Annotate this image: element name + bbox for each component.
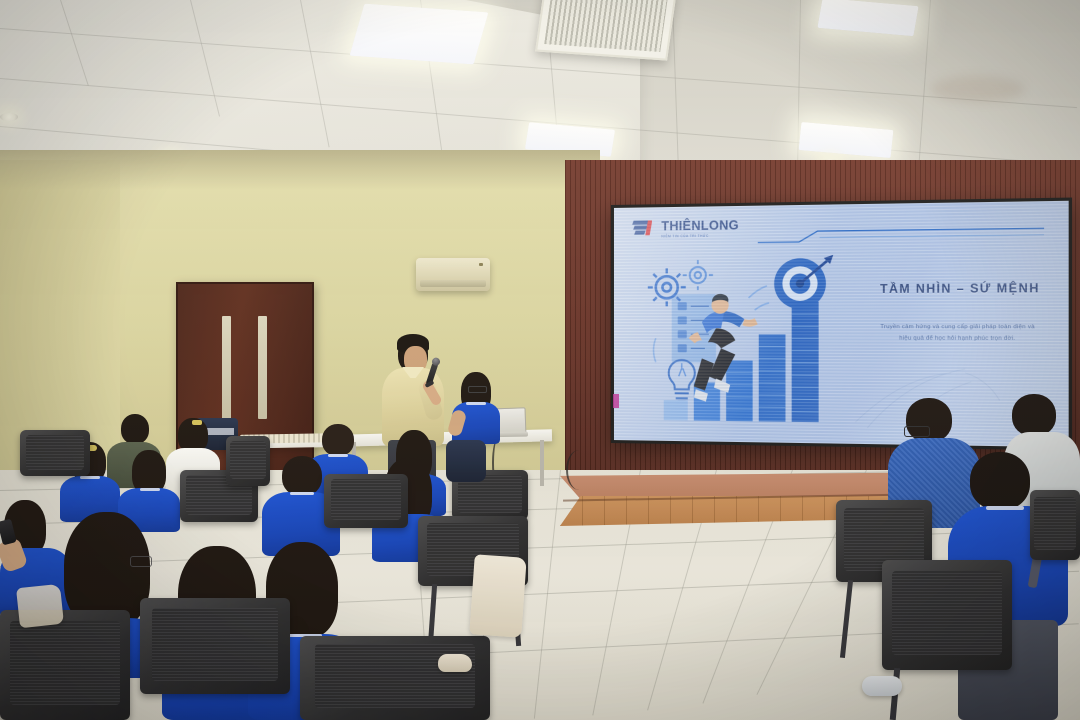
office-chair[interactable] xyxy=(1030,490,1080,560)
slide-header-accent xyxy=(758,226,1045,244)
slide-surface: THIÊNLONG NIỀM TIN CỦA TRI THỨC xyxy=(614,201,1069,447)
draped-jacket xyxy=(469,554,526,637)
thienlong-logo-mark xyxy=(633,220,657,235)
audience-head xyxy=(121,414,149,444)
audience-head xyxy=(970,452,1030,510)
shoe xyxy=(862,676,902,696)
draped-cloth xyxy=(16,584,64,628)
backpack-on-floor xyxy=(446,440,486,482)
office-chair[interactable] xyxy=(300,636,490,720)
floor-cable xyxy=(566,450,592,490)
office-chair[interactable] xyxy=(140,598,290,694)
ceiling-stain xyxy=(930,76,1025,102)
ceiling-downlight xyxy=(0,113,18,121)
hair-clip xyxy=(192,420,202,425)
table-leg xyxy=(540,440,544,486)
ceiling-ac-cassette xyxy=(535,0,677,61)
thienlong-logo-tagline: NIỀM TIN CỦA TRI THỨC xyxy=(661,233,739,238)
office-chair[interactable] xyxy=(20,430,90,476)
thienlong-logo: THIÊNLONG NIỀM TIN CỦA TRI THỨC xyxy=(633,219,739,239)
office-chair[interactable] xyxy=(0,610,130,720)
audience-head xyxy=(322,424,354,456)
wall-ceiling-shadow xyxy=(0,150,600,190)
growth-illustration xyxy=(635,245,839,427)
eyeglasses xyxy=(904,426,930,437)
audience-head xyxy=(1012,394,1056,436)
moderator-glasses xyxy=(468,386,487,393)
seated-moderator xyxy=(448,374,504,444)
audience-head xyxy=(282,456,322,496)
thienlong-logo-text: THIÊNLONG xyxy=(661,219,739,233)
ceiling-panel-light xyxy=(350,4,489,65)
screen-edge-marker xyxy=(613,394,619,408)
audience-collar xyxy=(140,488,160,491)
audience-collar xyxy=(290,492,314,495)
audience-collar xyxy=(80,476,100,479)
office-chair[interactable] xyxy=(226,436,270,486)
shoe xyxy=(438,654,472,672)
moderator-collar xyxy=(466,402,486,405)
seminar-room-photo: THIÊNLONG NIỀM TIN CỦA TRI THỨC xyxy=(0,0,1080,720)
office-chair[interactable] xyxy=(324,474,408,528)
eyeglasses xyxy=(130,556,152,567)
led-presentation-screen: THIÊNLONG NIỀM TIN CỦA TRI THỨC xyxy=(611,198,1072,451)
audience-collar xyxy=(986,506,1024,510)
office-chair[interactable] xyxy=(882,560,1012,670)
wall-split-air-conditioner xyxy=(416,258,490,291)
slide-title: TẦM NHÌN – SỨ MỆNH xyxy=(862,282,1059,295)
